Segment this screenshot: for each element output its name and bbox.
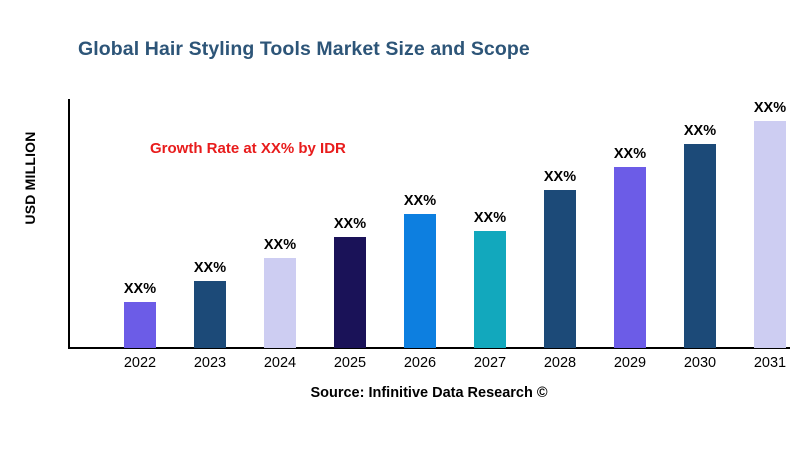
bar-value-label-2022: XX%	[105, 281, 175, 297]
x-tick-label-2023: 2023	[175, 355, 245, 371]
bar-value-label-2024: XX%	[245, 237, 315, 253]
x-tick-label-2029: 2029	[595, 355, 665, 371]
bar-2029[interactable]	[614, 167, 646, 348]
bar-group: XX%	[315, 99, 385, 348]
bar-value-label-2025: XX%	[315, 216, 385, 232]
bar-group: XX%	[175, 99, 245, 348]
bar-2027[interactable]	[474, 231, 506, 348]
bar-2026[interactable]	[404, 214, 436, 348]
x-tick-label-2024: 2024	[245, 355, 315, 371]
bar-2028[interactable]	[544, 190, 576, 348]
bar-group: XX%	[245, 99, 315, 348]
bar-value-label-2029: XX%	[595, 146, 665, 162]
bar-value-label-2030: XX%	[665, 123, 735, 139]
bar-value-label-2023: XX%	[175, 260, 245, 276]
bar-group: XX%	[735, 99, 800, 348]
bar-value-label-2026: XX%	[385, 193, 455, 209]
x-tick-label-2028: 2028	[525, 355, 595, 371]
bar-2025[interactable]	[334, 237, 366, 348]
bar-group: XX%	[385, 99, 455, 348]
bar-group: XX%	[595, 99, 665, 348]
bar-group: XX%	[455, 99, 525, 348]
x-tick-label-2025: 2025	[315, 355, 385, 371]
chart-title: Global Hair Styling Tools Market Size an…	[78, 38, 530, 61]
x-tick-label-2027: 2027	[455, 355, 525, 371]
x-tick-label-2022: 2022	[105, 355, 175, 371]
plot-area: XX%XX%XX%XX%XX%XX%XX%XX%XX%XX%	[70, 99, 790, 348]
chart-figure: Global Hair Styling Tools Market Size an…	[0, 0, 800, 450]
bar-value-label-2028: XX%	[525, 169, 595, 185]
x-tick-label-2031: 2031	[735, 355, 800, 371]
bar-2030[interactable]	[684, 144, 716, 348]
bar-2031[interactable]	[754, 121, 786, 348]
bar-2024[interactable]	[264, 258, 296, 348]
bar-value-label-2027: XX%	[455, 210, 525, 226]
source-caption: Source: Infinitive Data Research ©	[0, 385, 800, 401]
bar-group: XX%	[665, 99, 735, 348]
bar-value-label-2031: XX%	[735, 100, 800, 116]
bar-2022[interactable]	[124, 302, 156, 348]
x-tick-label-2026: 2026	[385, 355, 455, 371]
bar-2023[interactable]	[194, 281, 226, 348]
x-tick-label-2030: 2030	[665, 355, 735, 371]
bar-group: XX%	[105, 99, 175, 348]
bar-group: XX%	[525, 99, 595, 348]
y-axis-title: USD MILLION	[22, 98, 38, 258]
